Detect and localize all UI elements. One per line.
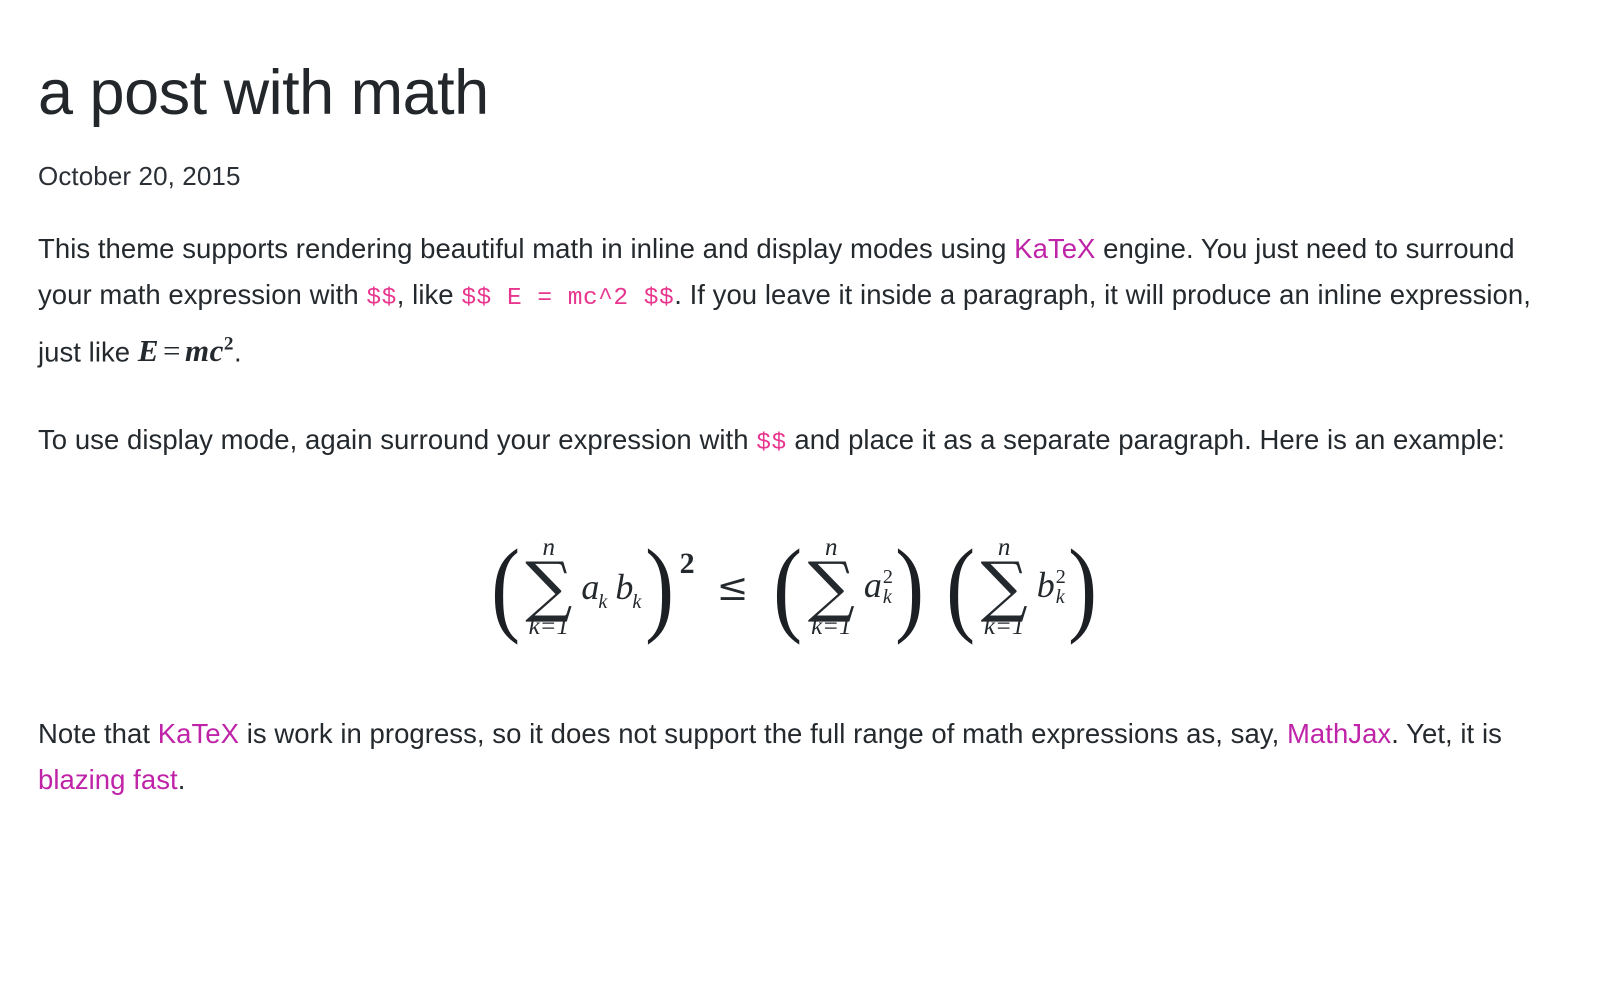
sum-lower-limit: k=1 — [984, 614, 1024, 639]
subscript-k: k — [883, 587, 893, 608]
variable-a: a — [864, 565, 882, 605]
variable-b: b — [1037, 565, 1055, 605]
text-segment: . — [178, 764, 186, 795]
equation-group-b-squared: ( n ∑ k=1 b2k ) — [943, 535, 1100, 639]
summation-operator: n ∑ k=1 — [808, 535, 855, 639]
equation-group-a-squared: ( n ∑ k=1 a2k ) — [770, 535, 927, 639]
sigma-icon: ∑ — [981, 561, 1028, 612]
term-b-squared-k: b2k — [1037, 564, 1065, 609]
paragraph-display-mode: To use display mode, again surround your… — [38, 417, 1556, 467]
inline-math-emc2: E=mc2 — [138, 333, 234, 368]
page-title: a post with math — [38, 56, 1556, 127]
paren-close: ) — [1068, 549, 1097, 625]
equation-group-left: ( n ∑ k=1 ak bk ) 2 — [488, 535, 695, 639]
variable-a: a — [581, 567, 599, 607]
text-segment: Note that — [38, 718, 158, 749]
paren-close: ) — [895, 549, 924, 625]
sum-lower-limit: k=1 — [811, 614, 851, 639]
link-katex[interactable]: KaTeX — [158, 718, 239, 749]
paren-close: ) — [645, 549, 674, 625]
link-mathjax[interactable]: MathJax — [1287, 718, 1391, 749]
text-segment: . Yet, it is — [1391, 718, 1502, 749]
link-katex[interactable]: KaTeX — [1014, 233, 1095, 264]
text-segment: . — [234, 336, 242, 367]
code-dollar-delimiters: $$ — [366, 285, 396, 312]
paren-open: ( — [946, 549, 975, 625]
relation-less-than-or-equal: ≤ — [717, 565, 749, 609]
equation-row: ( n ∑ k=1 ak bk ) 2 ≤ ( n ∑ k=1 a2 — [488, 535, 1100, 639]
text-segment: and place it as a separate paragraph. He… — [787, 424, 1505, 455]
paragraph-intro: This theme supports rendering beautiful … — [38, 226, 1556, 375]
sigma-icon: ∑ — [525, 561, 572, 612]
paragraph-note: Note that KaTeX is work in progress, so … — [38, 711, 1556, 803]
summation-operator: n ∑ k=1 — [525, 535, 572, 639]
text-segment: , like — [397, 279, 462, 310]
text-segment: To use display mode, again surround your… — [38, 424, 756, 455]
text-segment: This theme supports rendering beautiful … — [38, 233, 1014, 264]
subscript-k: k — [632, 591, 641, 613]
superscript-2: 2 — [883, 567, 893, 588]
post-page: a post with math October 20, 2015 This t… — [0, 0, 1600, 1000]
code-inline-example: $$ E = mc^2 $$ — [461, 285, 674, 312]
term-a-k: ak — [581, 566, 608, 608]
sup-sub-pair: 2k — [1056, 567, 1066, 608]
sum-lower-limit: k=1 — [529, 614, 569, 639]
term-b-k: bk — [615, 566, 642, 608]
sigma-icon: ∑ — [808, 561, 855, 612]
superscript-2: 2 — [1056, 567, 1066, 588]
post-date: October 20, 2015 — [38, 161, 1556, 192]
term-a-squared-k: a2k — [864, 564, 892, 609]
display-math-equation: ( n ∑ k=1 ak bk ) 2 ≤ ( n ∑ k=1 a2 — [38, 507, 1556, 667]
link-blazing-fast[interactable]: blazing fast — [38, 764, 178, 795]
variable-b: b — [615, 567, 633, 607]
text-segment: is work in progress, so it does not supp… — [239, 718, 1287, 749]
paren-open: ( — [774, 549, 803, 625]
subscript-k: k — [1056, 587, 1066, 608]
subscript-k: k — [598, 591, 607, 613]
summation-operator: n ∑ k=1 — [981, 535, 1028, 639]
sup-sub-pair: 2k — [883, 567, 893, 608]
paren-open: ( — [491, 549, 520, 625]
outer-exponent: 2 — [680, 547, 695, 581]
code-dollar-delimiters: $$ — [756, 430, 786, 457]
